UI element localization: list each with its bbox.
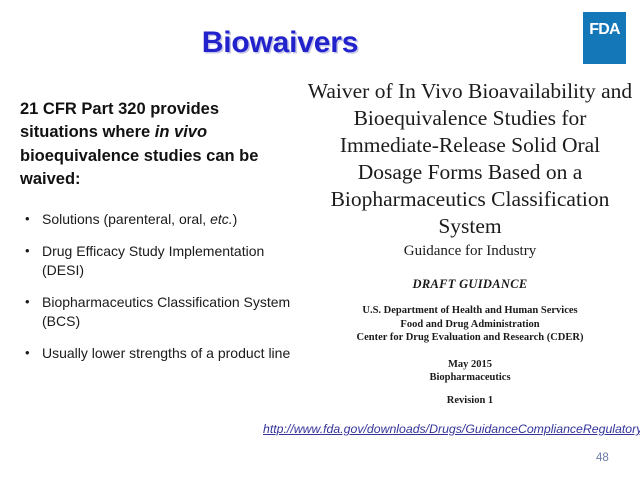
lead-statement: 21 CFR Part 320 provides situations wher… <box>20 98 300 192</box>
agency-line-cder: Center for Drug Evaluation and Research … <box>305 331 635 344</box>
bullet-icon: • <box>25 210 30 228</box>
publication-date: May 2015 <box>305 358 635 371</box>
guidance-document-title: Waiver of In Vivo Bioavailability and Bi… <box>305 78 635 240</box>
list-item: • Solutions (parenteral, oral, etc.) <box>20 210 300 229</box>
source-url-line-2: RegulatoryInformation/Guidances/UCM07024… <box>583 422 640 436</box>
fda-logo: FDA <box>583 12 626 64</box>
agency-line-fda: Food and Drug Administration <box>305 318 635 331</box>
list-item: • Biopharmaceutics Classification System… <box>20 293 300 331</box>
list-item-text-emphasis: etc. <box>210 211 233 227</box>
agency-attribution: U.S. Department of Health and Human Serv… <box>305 304 635 344</box>
bullet-icon: • <box>25 293 30 311</box>
list-item: • Usually lower strengths of a product l… <box>20 344 300 363</box>
list-item-text-part1: Usually lower strengths of a product lin… <box>42 345 290 361</box>
page-number: 48 <box>596 452 609 464</box>
list-item-text-part1: Solutions (parenteral, oral, <box>42 211 210 227</box>
list-item-text-part1: Biopharmaceutics Classification System (… <box>42 294 290 329</box>
left-content-column: 21 CFR Part 320 provides situations wher… <box>20 98 300 376</box>
list-item-text-part2: ) <box>233 211 238 227</box>
guidance-document-cover: Waiver of In Vivo Bioavailability and Bi… <box>305 78 635 407</box>
biowaiver-situations-list: • Solutions (parenteral, oral, etc.) • D… <box>20 210 300 363</box>
source-url-line-1: http://www.fda.gov/downloads/Drugs/Guida… <box>263 422 583 436</box>
bullet-icon: • <box>25 242 30 260</box>
publication-discipline: Biopharmaceutics <box>305 371 635 384</box>
lead-statement-emphasis: in vivo <box>155 123 207 141</box>
source-url-link[interactable]: http://www.fda.gov/downloads/Drugs/Guida… <box>263 421 621 438</box>
list-item-text-part1: Drug Efficacy Study Implementation (DESI… <box>42 243 264 278</box>
page-title: Biowaivers <box>0 26 560 60</box>
publication-revision: Revision 1 <box>305 394 635 407</box>
publication-info: May 2015 Biopharmaceutics <box>305 358 635 385</box>
fda-logo-text: FDA <box>583 21 626 39</box>
list-item: • Drug Efficacy Study Implementation (DE… <box>20 242 300 280</box>
draft-guidance-label: DRAFT GUIDANCE <box>305 277 635 292</box>
slide-canvas: Biowaivers FDA 21 CFR Part 320 provides … <box>0 0 640 480</box>
agency-line-department: U.S. Department of Health and Human Serv… <box>305 304 635 317</box>
lead-statement-part2: bioequivalence studies can be waived: <box>20 147 258 188</box>
guidance-document-subtitle: Guidance for Industry <box>305 242 635 260</box>
bullet-icon: • <box>25 344 30 362</box>
